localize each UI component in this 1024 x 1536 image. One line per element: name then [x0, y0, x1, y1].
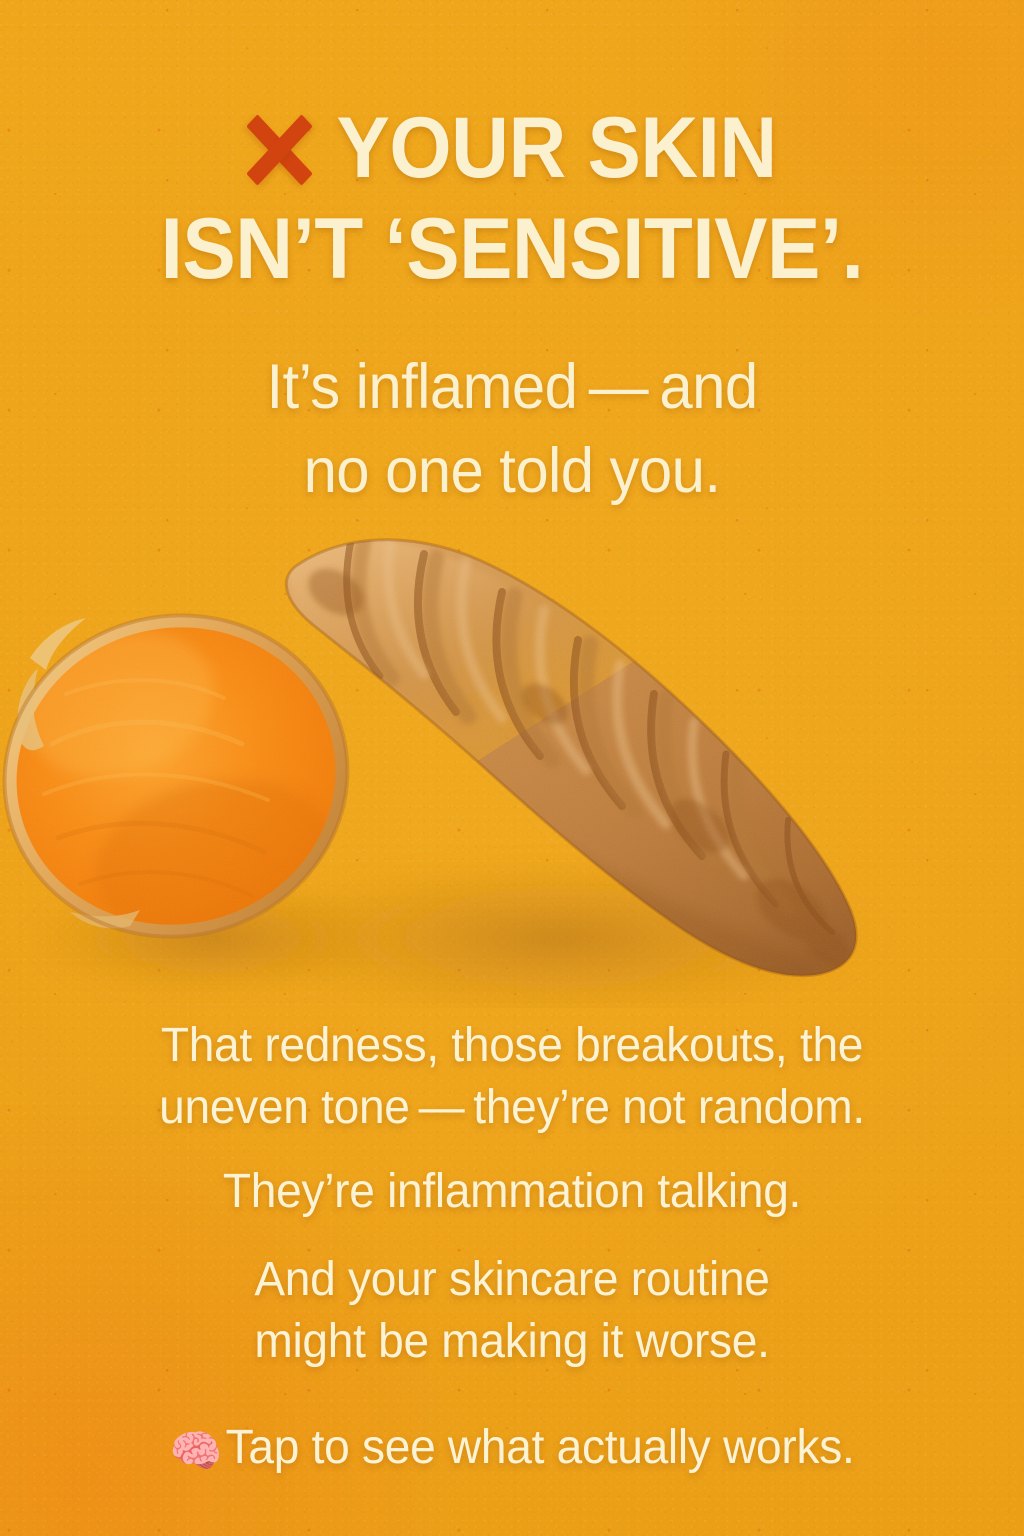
headline-line-1-row: YOUR SKIN — [36, 98, 988, 199]
turmeric-root-photo — [0, 508, 1024, 1008]
body-p3-line-1: And your skincare routine — [20, 1249, 1003, 1311]
brain-icon: 🧠 — [170, 1427, 222, 1476]
promo-poster: YOUR SKIN ISN’T ‘SENSITIVE’. It’s inflam… — [0, 0, 1024, 1536]
body-p1-line-2: uneven tone — they’re not random. — [20, 1077, 1003, 1139]
body-paragraph-2: They’re inflammation talking. — [20, 1161, 1003, 1223]
cta-tap-prompt[interactable]: 🧠Tap to see what actually works. — [20, 1417, 1003, 1483]
body-copy: That redness, those breakouts, the uneve… — [0, 1015, 1024, 1483]
red-x-icon — [247, 117, 312, 183]
body-p3-line-2: might be making it worse. — [20, 1311, 1003, 1373]
headline-line-1: YOUR SKIN — [337, 100, 777, 196]
headline: YOUR SKIN ISN’T ‘SENSITIVE’. — [36, 98, 988, 300]
subtitle-line-2: no one told you. — [26, 429, 999, 513]
body-paragraph-1: That redness, those breakouts, the uneve… — [20, 1015, 1003, 1139]
subtitle: It’s inflamed — and no one told you. — [26, 345, 999, 513]
body-paragraph-3: And your skincare routine might be makin… — [20, 1249, 1003, 1373]
cta-label: Tap to see what actually works. — [226, 1421, 855, 1474]
body-p2-line-1: They’re inflammation talking. — [20, 1161, 1003, 1223]
headline-line-2: ISN’T ‘SENSITIVE’. — [36, 199, 988, 300]
subtitle-line-1: It’s inflamed — and — [26, 345, 999, 429]
body-p1-line-1: That redness, those breakouts, the — [20, 1015, 1003, 1077]
